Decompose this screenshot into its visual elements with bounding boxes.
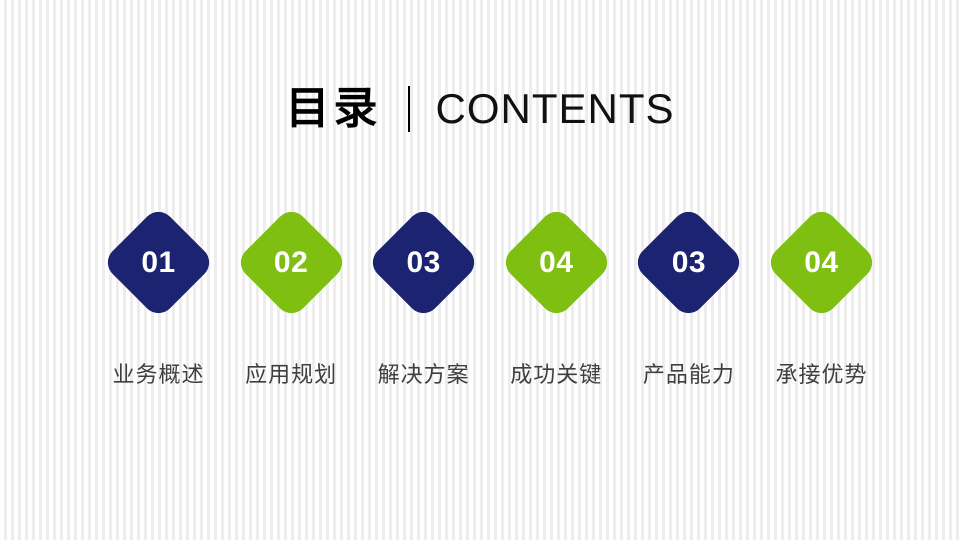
step-label-4: 成功关键 [510, 364, 602, 386]
step-label-6: 承接优势 [775, 364, 867, 386]
page-title-chinese: 目录 [286, 87, 382, 131]
contents-step-6[interactable]: 04 承接优势 [764, 205, 879, 386]
slide-canvas: 目录 CONTENTS 01 业务概述 02 应用规划 03 解决方案 [0, 0, 960, 540]
step-number-2: 02 [274, 248, 308, 278]
contents-step-1[interactable]: 01 业务概述 [101, 205, 216, 386]
contents-step-2[interactable]: 02 应用规划 [234, 205, 349, 386]
step-number-6: 04 [804, 248, 838, 278]
step-diamond-5[interactable]: 03 [631, 205, 746, 320]
step-number-3: 03 [407, 248, 441, 278]
step-number-4: 04 [539, 248, 573, 278]
title-divider [408, 86, 410, 132]
step-diamond-3[interactable]: 03 [366, 205, 481, 320]
step-label-2: 应用规划 [245, 364, 337, 386]
step-diamond-6[interactable]: 04 [764, 205, 879, 320]
step-number-1: 01 [141, 248, 175, 278]
contents-steps-row: 01 业务概述 02 应用规划 03 解决方案 04 成功关键 [101, 205, 879, 395]
step-label-3: 解决方案 [378, 364, 470, 386]
step-number-5: 03 [672, 248, 706, 278]
slide-title: 目录 CONTENTS [0, 78, 960, 140]
step-label-5: 产品能力 [643, 364, 735, 386]
page-title-english: CONTENTS [436, 88, 675, 130]
step-diamond-2[interactable]: 02 [234, 205, 349, 320]
contents-step-5[interactable]: 03 产品能力 [631, 205, 746, 386]
contents-step-3[interactable]: 03 解决方案 [366, 205, 481, 386]
step-diamond-1[interactable]: 01 [101, 205, 216, 320]
step-label-1: 业务概述 [112, 364, 204, 386]
contents-step-4[interactable]: 04 成功关键 [499, 205, 614, 386]
step-diamond-4[interactable]: 04 [499, 205, 614, 320]
